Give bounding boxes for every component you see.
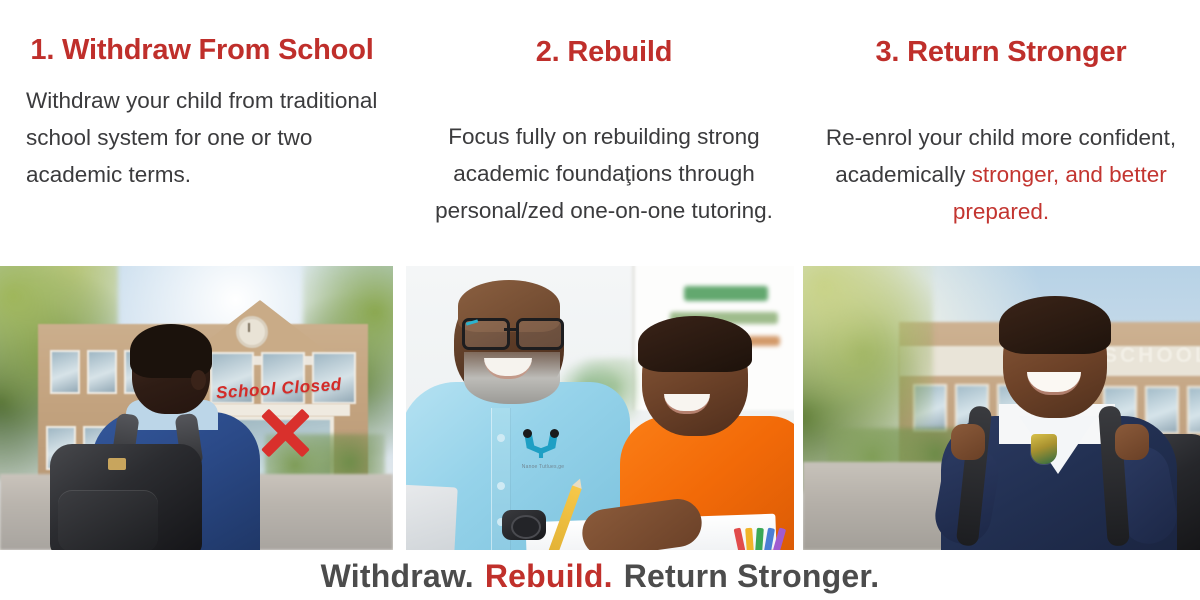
step-2-heading: 2. Rebuild xyxy=(414,36,794,69)
step-1-body: Withdraw your child from traditional sch… xyxy=(26,82,378,193)
photo-return-stronger: SCHOOL xyxy=(803,266,1200,550)
step-3-heading: 3. Return Stronger xyxy=(806,36,1196,69)
tagline-part-withdraw: Withdraw. xyxy=(321,558,474,595)
glasses-bridge xyxy=(504,328,518,331)
pen xyxy=(773,528,786,550)
pen xyxy=(755,528,764,550)
glasses-icon xyxy=(462,318,566,344)
shirt-logo-icon xyxy=(524,432,558,458)
pen xyxy=(734,528,746,550)
shirt-button xyxy=(497,482,505,490)
photo-gap-2 xyxy=(794,266,803,550)
step-column-1: 1. Withdraw From School Withdraw your ch… xyxy=(0,0,400,262)
clock-icon xyxy=(236,316,268,348)
step-2-body: Focus fully on rebuilding strong academi… xyxy=(414,118,794,229)
photo-3-scene: SCHOOL xyxy=(803,266,1200,550)
photo-gap-1 xyxy=(393,266,406,550)
step-column-2: 2. Rebuild Focus fully on rebuilding str… xyxy=(400,0,800,262)
photo-1-scene: School Closed xyxy=(0,266,393,550)
logo-dot-right xyxy=(550,429,559,438)
backpack-brand-tag xyxy=(108,458,126,470)
glasses-lens-right xyxy=(516,318,564,350)
backpack-pocket xyxy=(58,490,158,550)
photo-strip: School Closed xyxy=(0,266,1200,550)
window xyxy=(87,350,117,394)
red-x-icon xyxy=(258,406,312,460)
photo-withdraw-school-closed: School Closed xyxy=(0,266,393,550)
tagline-part-rebuild: Rebuild. xyxy=(485,558,613,595)
wristwatch-face xyxy=(511,515,541,539)
boy-hand-left xyxy=(951,424,985,460)
student-hair xyxy=(638,316,752,372)
step-3-body: Re-enrol your child more confident, acad… xyxy=(806,119,1196,230)
laptop xyxy=(406,485,458,550)
photo-rebuild-tutoring: Nanoe Tutlues,ge xyxy=(406,266,794,550)
shirt-logo-text: Nanoe Tutlues,ge xyxy=(510,464,576,470)
boy-hand-right xyxy=(1115,424,1149,460)
step-column-3: 3. Return Stronger Re-enrol your child m… xyxy=(800,0,1200,262)
steps-text-row: 1. Withdraw From School Withdraw your ch… xyxy=(0,0,1200,262)
footer-tagline: Withdraw. Rebuild. Return Stronger. xyxy=(0,552,1200,600)
steps-infographic: 1. Withdraw From School Withdraw your ch… xyxy=(0,0,1200,600)
window xyxy=(1187,386,1200,434)
boy-hair xyxy=(999,296,1111,354)
school-crest-badge xyxy=(1031,434,1057,464)
shirt-button xyxy=(497,434,505,442)
window xyxy=(50,350,80,394)
step-1-heading: 1. Withdraw From School xyxy=(26,34,378,67)
colored-pens xyxy=(734,526,790,550)
whiteboard-text-line xyxy=(684,286,768,301)
step-3-body-emphasis: stronger, and better prepared. xyxy=(953,162,1167,224)
boy-ear xyxy=(191,370,206,390)
tagline-part-return-stronger: Return Stronger. xyxy=(624,558,880,595)
photo-2-scene: Nanoe Tutlues,ge xyxy=(406,266,794,550)
pen xyxy=(745,528,754,550)
school-sign-text: SCHOOL xyxy=(1103,344,1200,368)
logo-dot-left xyxy=(523,429,532,438)
